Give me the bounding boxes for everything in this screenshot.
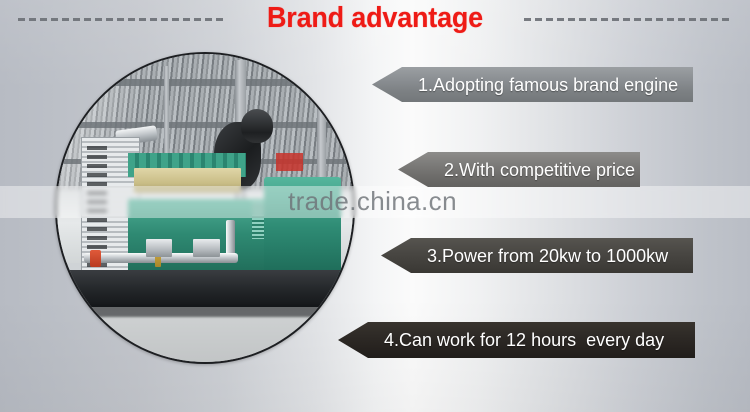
advantage-banner-1-label: 1.Adopting famous brand engine — [418, 76, 678, 94]
dashed-rule-right — [524, 18, 731, 21]
wall-sign — [276, 153, 303, 171]
coolant-pipe-riser — [226, 220, 235, 257]
air-cleaner — [241, 109, 274, 143]
advantage-banner-4-label: 4.Can work for 12 hours every day — [384, 331, 664, 349]
roof-beam — [57, 79, 353, 87]
product-photo-circle — [55, 52, 355, 364]
advantage-banner-3[interactable]: 3.Power from 20kw to 1000kw — [381, 238, 693, 273]
advantage-banner-3-label: 3.Power from 20kw to 1000kw — [427, 247, 668, 265]
alternator — [264, 177, 341, 276]
header: Brand advantage — [0, 0, 750, 46]
skid-shadow — [57, 305, 353, 317]
advantage-banner-1[interactable]: 1.Adopting famous brand engine — [372, 67, 693, 102]
intake-manifold — [134, 168, 241, 193]
engine-mount — [146, 239, 173, 257]
product-photo — [57, 54, 353, 362]
banner-graphic: Brand advantage — [0, 0, 750, 412]
advantage-banner-4[interactable]: 4.Can work for 12 hours every day — [338, 322, 695, 358]
advantage-banner-2-label: 2.With competitive price — [444, 161, 635, 179]
roof-beam — [57, 122, 353, 128]
red-valve — [90, 250, 102, 267]
engine-block — [128, 199, 270, 276]
generator-skid-base — [57, 270, 353, 307]
factory-column — [164, 66, 170, 158]
advantage-banner-2[interactable]: 2.With competitive price — [398, 152, 640, 187]
engine-mount — [193, 239, 220, 257]
